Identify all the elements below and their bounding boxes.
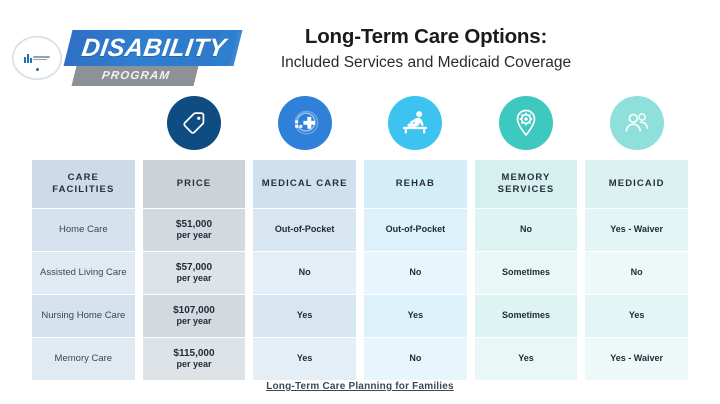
page-subtitle: Included Services and Medicaid Coverage [186,51,666,75]
table-cell-medical_care-row2: No [253,252,356,294]
column-header-medical_care: MEDICAL CARE [253,160,356,208]
column-header-medicaid: MEDICAID [585,160,688,208]
table-cell-memory_services-row3: Sometimes [475,295,578,337]
table-cell-medicaid-row3: Yes [585,295,688,337]
table-cell-rehab-row1: Out-of-Pocket [364,209,467,251]
column-header-price: PRICE [143,160,246,208]
price-period: per year [173,316,215,328]
table-cell-memory_services-row2: Sometimes [475,252,578,294]
table-cell-medicaid-row1: Yes - Waiver [585,209,688,251]
table-cell-care_facilities-row4: Memory Care [32,338,135,380]
table-cell-care_facilities-row2: Assisted Living Care [32,252,135,294]
medical-cross-icon [278,96,332,150]
table-column-body-memory_services: MEMORY SERVICESNoSometimesSometimesYes [475,160,578,374]
table-column-body-care_facilities: CARE FACILITIESHome CareAssisted Living … [32,160,135,374]
price-period: per year [176,273,212,285]
table-cell-price-row1: $51,000per year [143,209,246,251]
table-cell-care_facilities-row3: Nursing Home Care [32,295,135,337]
table-column-memory_services: MEMORY SERVICESNoSometimesSometimesYes [475,96,578,374]
table-cell-rehab-row3: Yes [364,295,467,337]
table-cell-medical_care-row1: Out-of-Pocket [253,209,356,251]
table-cell-medicaid-row4: Yes - Waiver [585,338,688,380]
table-column-body-medicaid: MEDICAIDYes - WaiverNoYesYes - Waiver [585,160,688,374]
care-options-table: CARE FACILITIESHome CareAssisted Living … [32,96,688,374]
column-header-care_facilities: CARE FACILITIES [32,160,135,208]
table-cell-price-row3: $107,000per year [143,295,246,337]
people-group-icon [610,96,664,150]
price-amount: $57,000 [176,262,212,274]
column-header-memory_services: MEMORY SERVICES [475,160,578,208]
price-amount: $115,000 [173,348,214,360]
table-column-medicaid: MEDICAIDYes - WaiverNoYesYes - Waiver [585,96,688,374]
table-column-rehab: REHABOut-of-PocketNoYesNo [364,96,467,374]
price-amount: $107,000 [173,305,215,317]
organization-logo-icon [12,36,62,80]
table-cell-medical_care-row4: Yes [253,338,356,380]
table-cell-price-row2: $57,000per year [143,252,246,294]
price-period: per year [176,230,212,242]
table-cell-rehab-row2: No [364,252,467,294]
table-cell-price-row4: $115,000per year [143,338,246,380]
table-cell-medical_care-row3: Yes [253,295,356,337]
table-cell-care_facilities-row1: Home Care [32,209,135,251]
table-column-medical_care: MEDICAL CAREOut-of-PocketNoYesYes [253,96,356,374]
table-cell-medicaid-row2: No [585,252,688,294]
table-column-price: PRICE$51,000per year$57,000per year$107,… [143,96,246,374]
table-column-body-price: PRICE$51,000per year$57,000per year$107,… [143,160,246,374]
memory-location-pin-icon [499,96,553,150]
footer-caption: Long-Term Care Planning for Families [0,381,720,392]
column-header-rehab: REHAB [364,160,467,208]
page-title: Long-Term Care Options: [186,24,666,50]
infographic-canvas: DISABILITY PROGRAM Long-Term Care Option… [0,0,720,404]
table-column-care_facilities: CARE FACILITIESHome CareAssisted Living … [32,96,135,374]
table-column-body-rehab: REHABOut-of-PocketNoYesNo [364,160,467,374]
header-titles: Long-Term Care Options: Included Service… [186,24,666,75]
brand-subtitle: PROGRAM [77,67,196,85]
price-tag-icon [167,96,221,150]
rehab-therapy-icon [388,96,442,150]
table-cell-rehab-row4: No [364,338,467,380]
table-cell-memory_services-row1: No [475,209,578,251]
price-amount: $51,000 [176,219,212,231]
price-period: per year [173,359,214,371]
table-column-body-medical_care: MEDICAL CAREOut-of-PocketNoYesYes [253,160,356,374]
table-cell-memory_services-row4: Yes [475,338,578,380]
